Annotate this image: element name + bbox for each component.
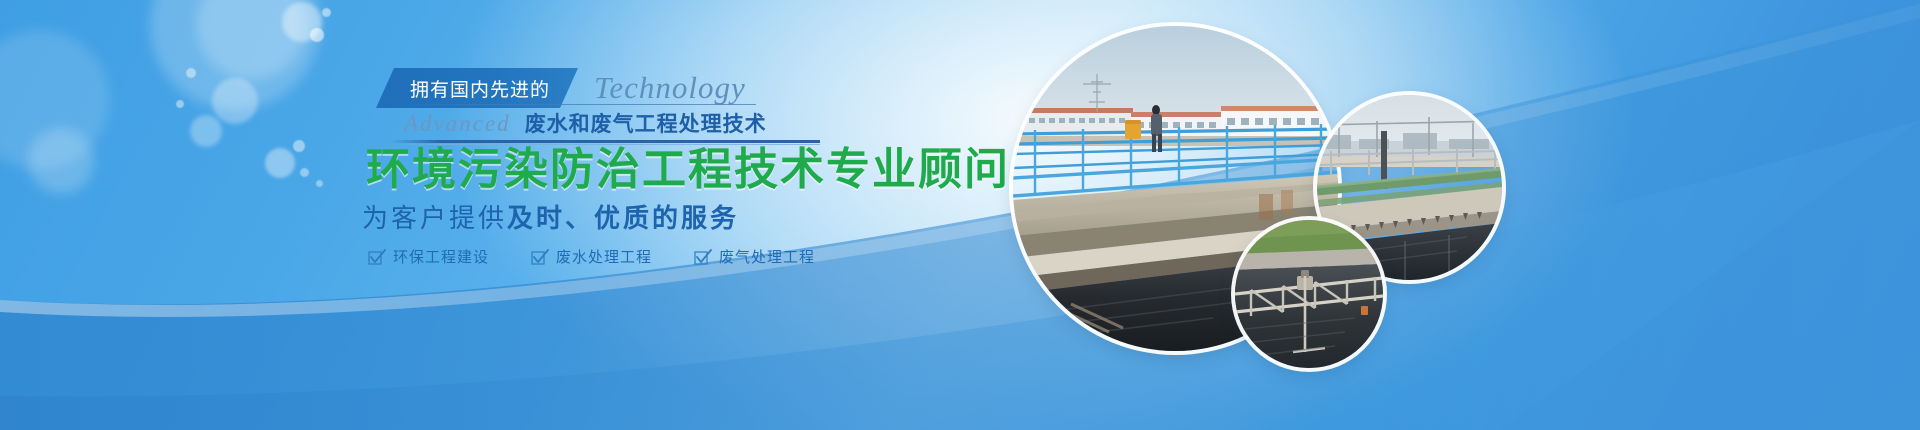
ribbon-row: 拥有国内先进的 Technology xyxy=(376,68,746,108)
divider-top xyxy=(404,104,756,105)
feature-item[interactable]: 环保工程建设 xyxy=(368,246,489,267)
technology-script-text: Technology xyxy=(594,68,746,108)
page-title: 环境污染防治工程技术专业顾问 xyxy=(366,133,1010,197)
feature-label: 废气处理工程 xyxy=(719,246,815,267)
check-icon xyxy=(368,249,386,265)
feature-label: 废水处理工程 xyxy=(556,246,652,267)
ribbon-badge: 拥有国内先进的 xyxy=(376,68,578,108)
sub-headline-normal: 为客户提供 xyxy=(362,203,507,233)
feature-item[interactable]: 废水处理工程 xyxy=(531,246,652,267)
check-icon xyxy=(694,249,712,265)
sub-headline: 为客户提供及时、优质的服务 xyxy=(362,198,739,235)
sub-headline-bold: 及时、优质的服务 xyxy=(507,203,739,233)
feature-label: 环保工程建设 xyxy=(393,246,489,267)
feature-item[interactable]: 废气处理工程 xyxy=(694,246,815,267)
banner-copy: 拥有国内先进的 Technology Advanced 废水和废气工程处理技术 … xyxy=(0,0,830,430)
promo-banner: 拥有国内先进的 Technology Advanced 废水和废气工程处理技术 … xyxy=(0,0,1920,430)
check-icon xyxy=(531,249,549,265)
feature-list: 环保工程建设 废水处理工程 废气处理工程 xyxy=(368,246,815,267)
photo-sludge-scraper-bridge xyxy=(1235,220,1383,368)
